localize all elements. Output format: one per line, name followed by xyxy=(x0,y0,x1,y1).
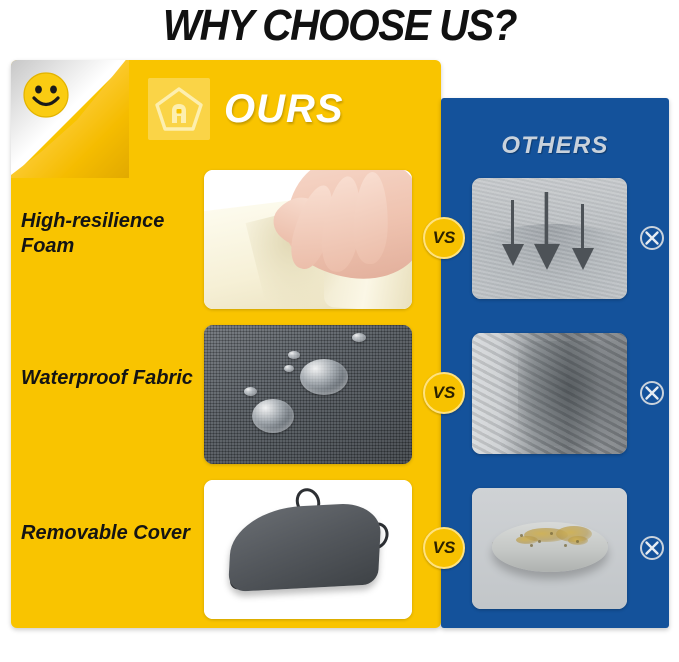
others-image-soaked-fabric xyxy=(472,333,627,454)
house-pentagon-logo-icon xyxy=(148,78,210,140)
feature-label-waterproof-fabric: Waterproof Fabric xyxy=(21,366,201,391)
x-circle-icon-row-2 xyxy=(639,380,665,406)
stain-speck-1 xyxy=(520,534,523,537)
vs-badge-row-2: VS xyxy=(423,372,465,414)
water-droplet-small-1 xyxy=(352,333,366,342)
stain-speck-2 xyxy=(538,540,541,543)
stain-speck-5 xyxy=(530,544,533,547)
water-droplet-small-3 xyxy=(284,365,294,372)
gray-chair-cushion-with-ties-photo xyxy=(204,480,412,619)
water-droplet-large-1 xyxy=(300,359,348,395)
water-droplet-small-2 xyxy=(288,351,300,359)
others-image-flat-foam xyxy=(472,178,627,299)
foam-texture xyxy=(472,178,627,299)
vs-badge-row-3: VS xyxy=(423,527,465,569)
feature-label-high-resilience-foam: High-resilience Foam xyxy=(21,209,201,259)
stain-speck-6 xyxy=(564,544,567,547)
ours-image-waterproof-fabric xyxy=(204,325,412,464)
arrows-sinking-into-flat-foam-photo xyxy=(472,178,627,299)
water-beading-on-fabric-photo xyxy=(204,325,412,464)
hand-pressing-foam-photo xyxy=(204,170,412,309)
others-label: OTHERS xyxy=(441,132,669,160)
water-droplet-large-2 xyxy=(252,399,294,433)
cushion-top xyxy=(228,502,382,592)
peeled-corner xyxy=(11,60,129,178)
ours-image-removable-cover xyxy=(204,480,412,619)
stain-speck-3 xyxy=(550,532,553,535)
vs-badge-row-1: VS xyxy=(423,217,465,259)
stain-3 xyxy=(516,536,538,544)
stained-round-cushion-photo xyxy=(472,488,627,609)
ours-image-high-resilience-foam xyxy=(204,170,412,309)
smiley-face-icon xyxy=(22,71,70,119)
page-title: WHY CHOOSE US? xyxy=(27,2,652,50)
stain-speck-4 xyxy=(576,540,579,543)
x-circle-icon-row-1 xyxy=(639,225,665,251)
ours-header: OURS xyxy=(148,78,344,140)
feature-label-removable-cover: Removable Cover xyxy=(21,521,201,546)
water-droplet-small-4 xyxy=(244,387,257,396)
x-circle-icon-row-3 xyxy=(639,535,665,561)
soaked-wet-fabric-photo xyxy=(472,333,627,454)
others-image-stained-cushion xyxy=(472,488,627,609)
ours-label: OURS xyxy=(224,87,344,132)
water-stain-blotch xyxy=(518,341,627,446)
